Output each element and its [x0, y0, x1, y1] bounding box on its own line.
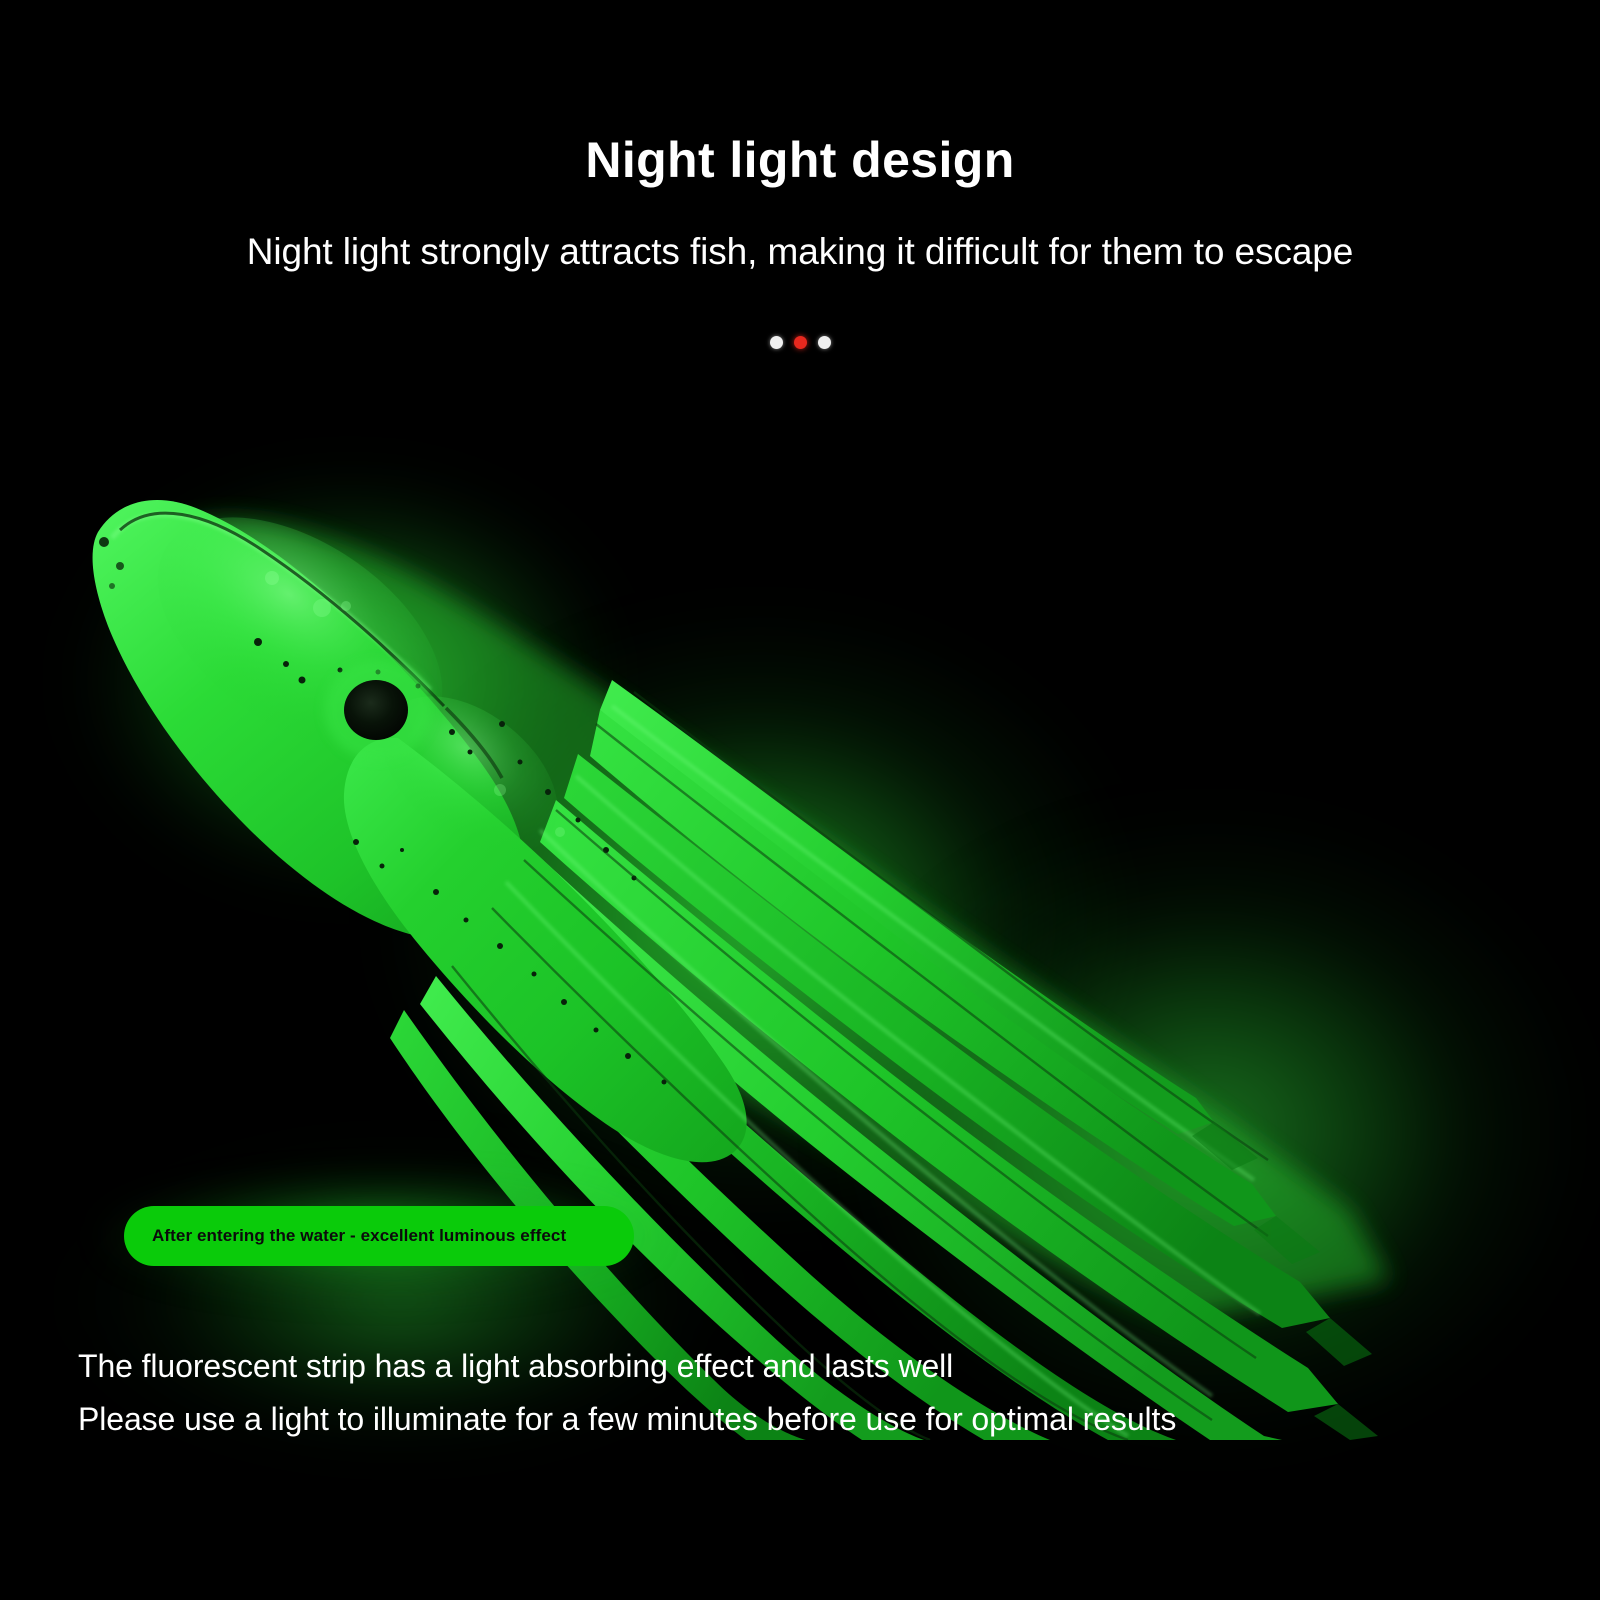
badge-label: After entering the water - excellent lum… [152, 1226, 566, 1246]
footer-line-1: The fluorescent strip has a light absorb… [78, 1340, 1478, 1393]
carousel-dot-1[interactable] [770, 336, 783, 349]
carousel-dots [0, 336, 1600, 349]
page-subtitle: Night light strongly attracts fish, maki… [0, 230, 1600, 274]
carousel-dot-3[interactable] [818, 336, 831, 349]
footer-notes: The fluorescent strip has a light absorb… [78, 1340, 1478, 1446]
product-feature-banner: Night light design Night light strongly … [0, 0, 1600, 1600]
badge-pill: After entering the water - excellent lum… [124, 1206, 634, 1266]
footer-line-2: Please use a light to illuminate for a f… [78, 1393, 1478, 1446]
luminous-effect-badge: After entering the water - excellent lum… [124, 1206, 634, 1266]
page-title: Night light design [0, 134, 1600, 187]
eye-pupil [344, 680, 408, 740]
carousel-dot-2-active[interactable] [794, 336, 807, 349]
